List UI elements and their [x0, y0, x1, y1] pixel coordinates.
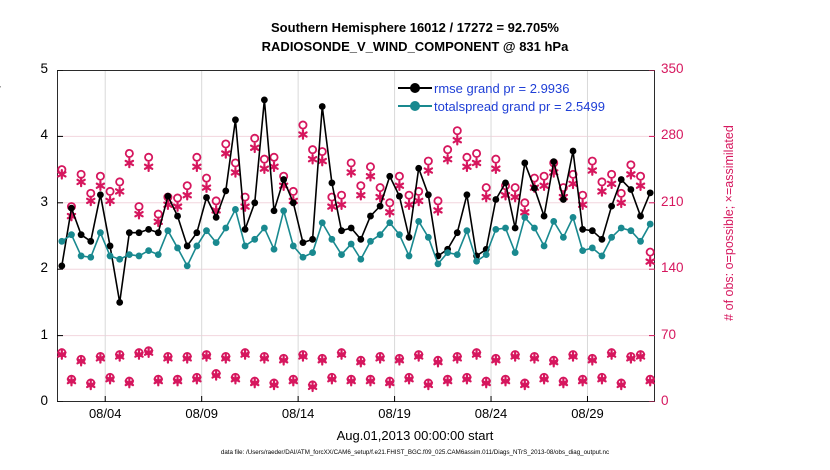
chart-figure: Southern Hemisphere 16012 / 17272 = 92.7… — [0, 0, 830, 470]
legend-item-rmse: rmse grand pr = 2.9936 — [398, 79, 570, 97]
series-rmse — [58, 96, 653, 305]
x-tick-08-29: 08/29 — [552, 406, 622, 421]
y-tick-right-350: 350 — [661, 61, 701, 76]
x-tick-08-04: 08/04 — [70, 406, 140, 421]
title-line-2: RADIOSONDE_V_WIND_COMPONENT @ 831 hPa — [0, 37, 830, 56]
series-totalspread — [58, 206, 653, 269]
x-axis-label: Aug.01,2013 00:00:00 start — [0, 428, 830, 443]
plot-area — [57, 70, 655, 402]
legend-label-totalspread: totalspread grand pr = 2.5499 — [434, 99, 605, 114]
legend-item-totalspread: totalspread grand pr = 2.5499 — [398, 97, 605, 115]
legend-label-rmse: rmse grand pr = 2.9936 — [434, 81, 570, 96]
y-tick-right-140: 140 — [661, 260, 701, 275]
x-tick-08-09: 08/09 — [167, 406, 237, 421]
legend-marker-rmse-icon — [398, 81, 432, 95]
plot-svg — [57, 70, 655, 402]
y-tick-left-1: 1 — [2, 327, 48, 342]
y-tick-right-0: 0 — [661, 393, 701, 408]
y-tick-left-2: 2 — [2, 260, 48, 275]
chart-title: Southern Hemisphere 16012 / 17272 = 92.7… — [0, 18, 830, 56]
chart-legend: rmse grand pr = 2.9936 totalspread grand… — [398, 79, 630, 117]
y-tick-left-5: 5 — [2, 61, 48, 76]
y-tick-right-70: 70 — [661, 327, 701, 342]
x-tick-08-14: 08/14 — [263, 406, 333, 421]
series--of-obs-assimilated-low-level — [58, 348, 654, 391]
legend-marker-totalspread-icon — [398, 99, 432, 113]
y-tick-left-3: 3 — [2, 194, 48, 209]
y-tick-left-4: 4 — [2, 127, 48, 142]
y-tick-right-210: 210 — [661, 194, 701, 209]
footer-data-file-path: data file: /Users/raeder/DAI/ATM_forcXX/… — [0, 449, 830, 456]
x-tick-08-24: 08/24 — [456, 406, 526, 421]
title-line-1: Southern Hemisphere 16012 / 17272 = 92.7… — [0, 18, 830, 37]
y-axis-right-label: # of obs: o=possible; ×=assimilated — [722, 48, 736, 398]
y-tick-left-0: 0 — [2, 393, 48, 408]
y-tick-right-280: 280 — [661, 127, 701, 142]
x-tick-08-19: 08/19 — [360, 406, 430, 421]
y-axis-left-label: rmse and totalspread — [0, 0, 1, 236]
